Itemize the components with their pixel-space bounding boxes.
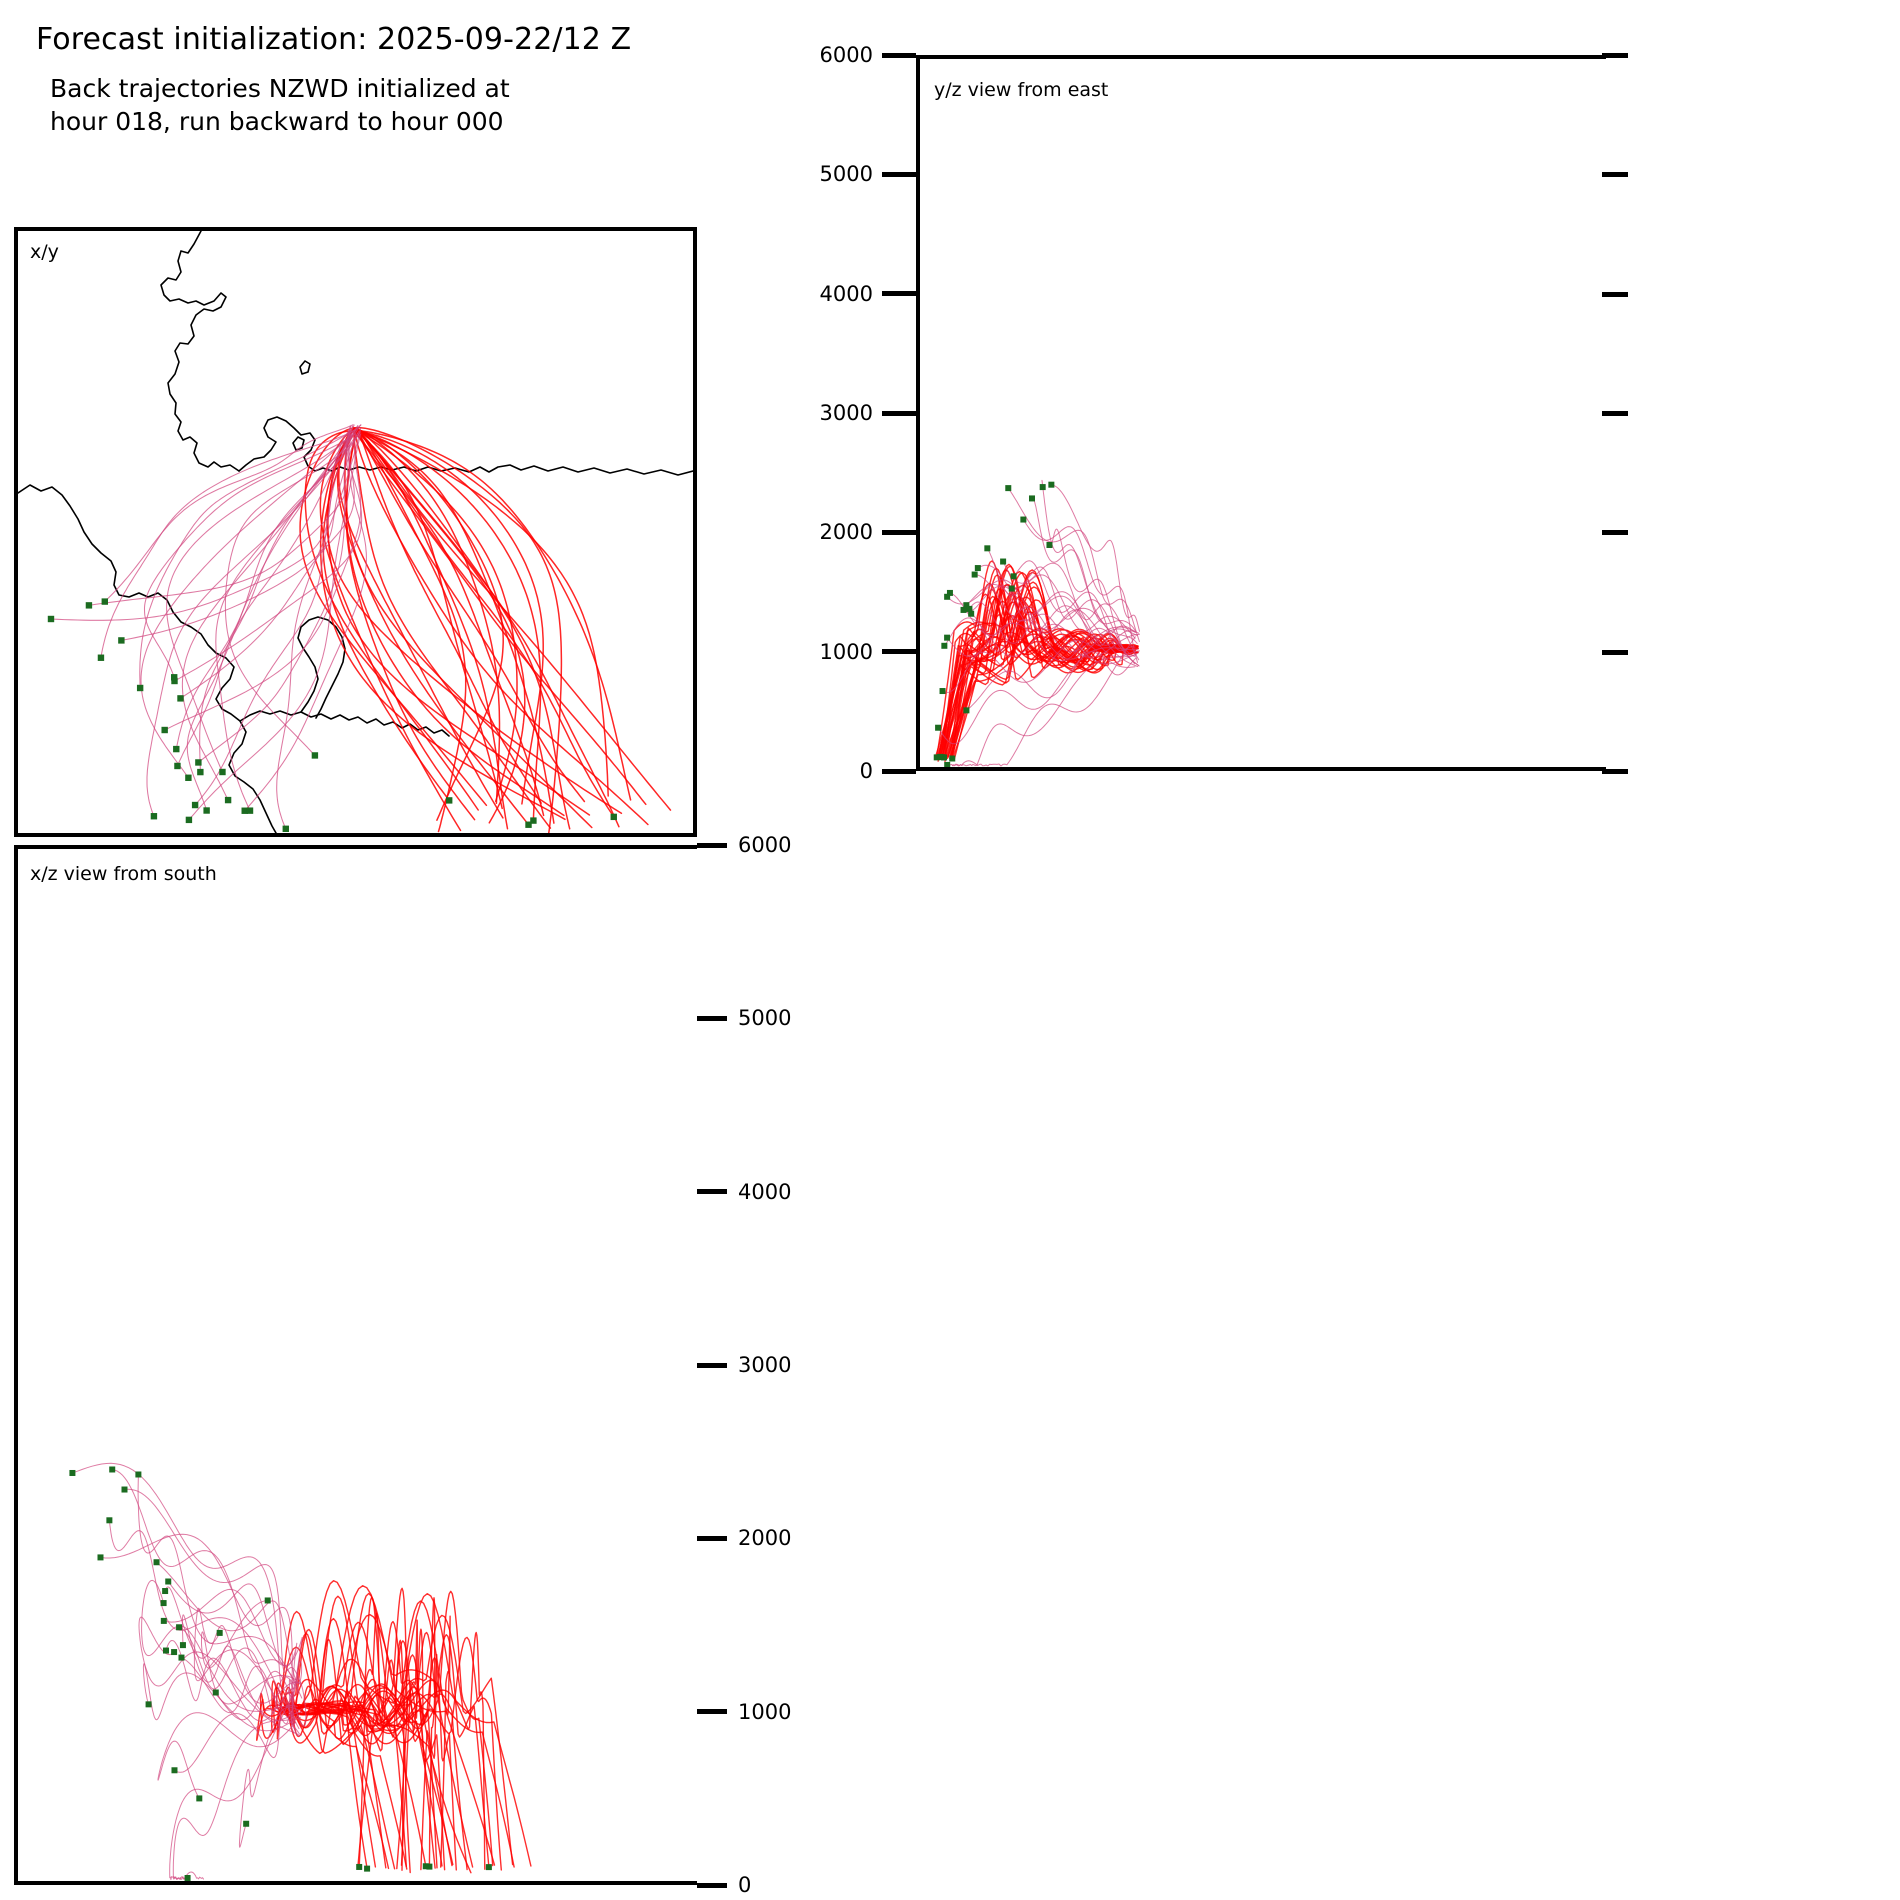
trajectory-endpoint-marker — [1029, 495, 1035, 501]
trajectory-endpoint-marker — [213, 1689, 219, 1695]
yz-right-axis-ticks — [1602, 55, 1632, 771]
trajectory-endpoint-marker — [173, 746, 179, 752]
subtitle-line-2: hour 018, run backward to hour 000 — [50, 107, 504, 136]
trajectory-endpoint-marker — [180, 1642, 186, 1648]
axis-tick-label: 6000 — [738, 833, 791, 857]
coastline-segment-0 — [161, 231, 239, 471]
trajectory-layer-yz — [935, 480, 1139, 766]
trajectory-endpoint-marker — [972, 572, 978, 578]
yz-right-tick-5000 — [1602, 172, 1628, 177]
trajectory-endpoint-marker — [1040, 484, 1046, 490]
trajectory-endpoint-marker — [161, 1600, 167, 1606]
trajectory-path — [354, 431, 631, 800]
trajectory-endpoint-marker — [1046, 542, 1052, 548]
trajectory-path — [112, 1470, 296, 1684]
yz-right-tick-4000 — [1602, 292, 1628, 297]
trajectory-endpoint-marker — [243, 1821, 249, 1827]
trajectory-path — [323, 432, 449, 801]
trajectory-endpoint-marker — [186, 817, 192, 823]
trajectory-path — [354, 431, 544, 816]
yz-y-axis: 0100020003000400050006000 — [806, 55, 916, 771]
coastline-segment-1 — [239, 417, 693, 475]
axis-tick-label: 3000 — [820, 401, 873, 425]
trajectory-endpoint-marker — [225, 797, 231, 803]
trajectory-path — [356, 432, 503, 809]
trajectory-endpoint-marker — [171, 1767, 177, 1773]
trajectory-endpoint-marker — [364, 1866, 370, 1872]
trajectory-endpoint-marker — [961, 607, 967, 613]
trajectory-endpoint-marker — [219, 769, 225, 775]
axis-tick-label: 5000 — [738, 1006, 791, 1030]
axis-tick-label: 4000 — [738, 1180, 791, 1204]
trajectory-path — [356, 431, 671, 810]
trajectory-layer-xy — [51, 425, 671, 833]
trajectory-endpoint-marker — [97, 1554, 103, 1560]
trajectory-endpoint-marker — [137, 685, 143, 691]
trajectory-endpoint-marker — [975, 565, 981, 571]
trajectory-endpoint-marker — [940, 688, 946, 694]
xz-y-axis: 0100020003000400050006000 — [697, 845, 827, 1885]
trajectory-path — [173, 1715, 299, 1880]
trajectory-endpoint-marker — [177, 695, 183, 701]
trajectory-endpoint-marker — [102, 598, 108, 604]
axis-tick-mark — [882, 411, 916, 416]
trajectory-endpoint-marker — [984, 545, 990, 551]
trajectory-endpoint-marker — [937, 754, 943, 760]
xy-plot-canvas — [18, 231, 693, 833]
axis-tick-mark — [882, 53, 916, 58]
trajectory-endpoint-marker — [171, 678, 177, 684]
axis-tick-mark — [697, 1189, 727, 1194]
trajectory-endpoint-marker — [941, 643, 947, 649]
axis-tick-mark — [697, 1016, 727, 1021]
trajectory-endpoint-marker — [312, 752, 318, 758]
trajectory-endpoint-marker — [161, 1618, 167, 1624]
axis-tick-mark — [697, 1363, 727, 1368]
yz-right-tick-6000 — [1602, 53, 1628, 58]
axis-tick-mark — [882, 769, 916, 774]
trajectory-path — [941, 594, 1137, 758]
yz-plot-canvas — [920, 59, 1602, 767]
trajectory-endpoint-marker — [935, 725, 941, 731]
trajectory-path — [178, 425, 355, 766]
yz-right-tick-0 — [1602, 769, 1628, 774]
axis-tick-mark — [882, 291, 916, 296]
yz-right-tick-2000 — [1602, 530, 1628, 535]
trajectory-endpoint-marker — [949, 756, 955, 762]
trajectory-endpoint-marker — [486, 1864, 492, 1870]
trajectory-endpoint-marker — [146, 1701, 152, 1707]
axis-tick-label: 2000 — [820, 520, 873, 544]
trajectory-endpoint-marker — [944, 762, 950, 767]
trajectory-endpoint-marker — [423, 1863, 429, 1869]
trajectory-path — [345, 430, 592, 828]
trajectory-endpoint-marker — [197, 769, 203, 775]
axis-tick-label: 1000 — [738, 1700, 791, 1724]
axis-tick-label: 4000 — [820, 282, 873, 306]
coastline-segment-4 — [298, 617, 345, 718]
trajectory-path — [320, 428, 460, 831]
axis-tick-label: 5000 — [820, 162, 873, 186]
panel-xy-plan-view[interactable]: x/y — [14, 227, 697, 837]
trajectory-endpoint-marker — [196, 1795, 202, 1801]
panel-xz-view-from-south[interactable]: x/z view from south — [14, 845, 697, 1885]
yz-right-tick-3000 — [1602, 411, 1628, 416]
trajectory-endpoint-marker — [203, 807, 209, 813]
axis-tick-label: 0 — [860, 759, 873, 783]
trajectory-endpoint-marker — [1005, 485, 1011, 491]
trajectory-endpoint-marker — [69, 1470, 75, 1476]
subtitle-line-1: Back trajectories NZWD initialized at — [50, 74, 510, 103]
trajectory-endpoint-marker — [86, 602, 92, 608]
trajectory-endpoint-marker — [48, 616, 54, 622]
trajectory-path — [1008, 488, 1139, 641]
trajectory-endpoint-marker — [154, 1559, 160, 1565]
page-title: Forecast initialization: 2025-09-22/12 Z — [36, 22, 631, 57]
trajectory-endpoint-marker — [525, 822, 531, 828]
trajectory-endpoint-marker — [1011, 573, 1017, 579]
trajectory-endpoint-marker — [185, 775, 191, 781]
axis-tick-mark — [697, 1883, 727, 1888]
trajectory-endpoint-marker — [611, 814, 617, 820]
trajectory-endpoint-marker — [162, 1588, 168, 1594]
trajectory-endpoint-marker — [283, 826, 289, 832]
panel-yz-view-from-east[interactable]: y/z view from east — [916, 55, 1606, 771]
axis-tick-mark — [697, 1536, 727, 1541]
trajectory-path — [101, 1534, 296, 1730]
trajectory-endpoint-marker — [1009, 586, 1015, 592]
xz-plot-canvas — [18, 849, 693, 1881]
trajectory-endpoint-marker — [944, 635, 950, 641]
trajectory-endpoint-marker — [171, 1649, 177, 1655]
trajectory-endpoint-marker — [966, 606, 972, 612]
trajectory-endpoint-marker — [1000, 559, 1006, 565]
axis-tick-label: 0 — [738, 1873, 751, 1897]
trajectory-endpoint-marker — [161, 727, 167, 733]
axis-tick-mark — [882, 172, 916, 177]
trajectory-endpoint-marker — [176, 1624, 182, 1630]
coastline-segment-6 — [293, 437, 304, 450]
trajectory-endpoint-marker — [106, 1517, 112, 1523]
axis-tick-label: 2000 — [738, 1526, 791, 1550]
axis-tick-mark — [697, 1709, 727, 1714]
trajectory-path — [339, 430, 503, 818]
trajectory-endpoint-marker — [192, 802, 198, 808]
endpoint-marker-layer-xz — [69, 1466, 491, 1881]
trajectory-endpoint-marker — [446, 797, 452, 803]
coastline-layer — [18, 231, 693, 833]
trajectory-endpoint-marker — [165, 1579, 171, 1585]
panel-yz-label: y/z view from east — [934, 79, 1108, 101]
trajectory-endpoint-marker — [944, 594, 950, 600]
trajectory-path — [297, 1660, 410, 1872]
axis-tick-mark — [882, 649, 916, 654]
trajectory-endpoint-marker — [178, 1655, 184, 1661]
trajectory-path — [109, 1520, 299, 1728]
axis-tick-label: 3000 — [738, 1353, 791, 1377]
trajectory-endpoint-marker — [963, 707, 969, 713]
trajectory-path — [165, 434, 361, 730]
trajectory-endpoint-marker — [135, 1471, 141, 1477]
trajectory-endpoint-marker — [121, 1487, 127, 1493]
axis-tick-mark — [697, 843, 727, 848]
coastline-segment-5 — [300, 361, 310, 374]
trajectory-endpoint-marker — [1020, 517, 1026, 523]
yz-right-tick-1000 — [1602, 650, 1628, 655]
panel-xy-label: x/y — [30, 241, 59, 263]
axis-tick-label: 6000 — [820, 43, 873, 67]
trajectory-endpoint-marker — [151, 813, 157, 819]
trajectory-endpoint-marker — [109, 1466, 115, 1472]
trajectory-endpoint-marker — [247, 807, 253, 813]
trajectory-endpoint-marker — [265, 1597, 271, 1603]
trajectory-path — [216, 426, 358, 811]
trajectory-endpoint-marker — [217, 1630, 223, 1636]
panel-xz-label: x/z view from south — [30, 863, 217, 885]
trajectory-endpoint-marker — [98, 655, 104, 661]
page-subtitle: Back trajectories NZWD initialized at ho… — [50, 72, 510, 138]
trajectory-path — [167, 432, 353, 772]
trajectory-endpoint-marker — [185, 1875, 191, 1881]
trajectory-endpoint-marker — [195, 759, 201, 765]
axis-tick-label: 1000 — [820, 640, 873, 664]
trajectory-endpoint-marker — [1048, 482, 1054, 488]
trajectory-layer-xz — [72, 1463, 531, 1879]
trajectory-endpoint-marker — [356, 1864, 362, 1870]
axis-tick-mark — [882, 530, 916, 535]
trajectory-endpoint-marker — [174, 763, 180, 769]
trajectory-endpoint-marker — [163, 1648, 169, 1654]
trajectory-endpoint-marker — [118, 637, 124, 643]
